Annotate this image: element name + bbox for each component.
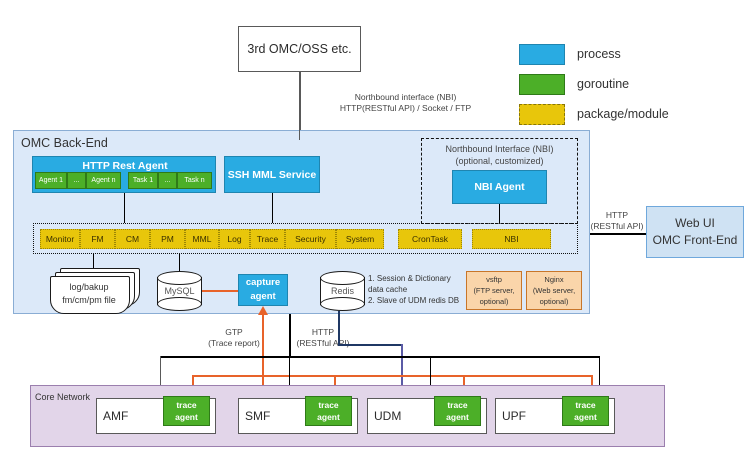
southbound-bus-line [160, 356, 600, 358]
agent-item[interactable]: Agent n [86, 172, 121, 189]
connector-northbound-to-backend [299, 130, 300, 140]
http-link-label: HTTP (RESTful API) [283, 327, 363, 349]
capture-agent-line2: agent [250, 290, 275, 304]
gtp-line2: (Trace report) [196, 338, 272, 349]
web-ui-box[interactable]: Web UI OMC Front-End [646, 206, 744, 258]
vsftp-line3: optional) [480, 296, 509, 307]
module-trace[interactable]: Trace [250, 229, 285, 249]
mysql-cylinder-bottom [157, 297, 202, 311]
module-monitor[interactable]: Monitor [40, 229, 80, 249]
connector-rest-agent-to-modules [124, 193, 125, 223]
module-mml[interactable]: MML [185, 229, 219, 249]
task-item[interactable]: Task 1 [128, 172, 158, 189]
redis-note-3: 2. Slave of UDM redis DB [368, 295, 478, 306]
legend-swatch-goroutine [519, 74, 565, 95]
file-store-text: log/bakup fm/cm/pm file [50, 281, 128, 307]
capture-agent-box[interactable]: capture agent [238, 274, 288, 306]
nginx-server-box[interactable]: Nginx (Web server, optional) [526, 271, 582, 310]
redis-label: Redis [320, 286, 365, 296]
mysql-label: MySQL [157, 286, 202, 296]
redis-cylinder-bottom [320, 297, 365, 311]
core-node-amf-label: AMF [103, 409, 128, 423]
trace-agent-udm-line2: agent [446, 411, 469, 423]
task-item-label: Task n [184, 177, 204, 184]
trace-agent-udm[interactable]: trace agent [434, 396, 481, 426]
module-label: Log [227, 234, 241, 244]
trace-agent-smf-line1: trace [318, 399, 338, 411]
module-pm[interactable]: PM [150, 229, 185, 249]
task-item-label: Task 1 [133, 177, 153, 184]
connector-nbi-agent-to-modules [499, 204, 500, 223]
capture-agent-line1: capture [246, 276, 280, 290]
core-network-title: Core Network [35, 392, 90, 402]
module-label: System [346, 234, 374, 244]
legend-label-goroutine: goroutine [577, 77, 629, 91]
nbi-agent-label: NBI Agent [474, 181, 524, 193]
vsftp-line1: vsftp [486, 274, 502, 285]
module-label: Monitor [46, 234, 74, 244]
nginx-line1: Nginx [544, 274, 563, 285]
legend: process goroutine package/module [519, 44, 739, 122]
mysql-cylinder-top [157, 271, 202, 285]
redis-cylinder-top [320, 271, 365, 285]
ssh-mml-service-box[interactable]: SSH MML Service [224, 156, 320, 193]
connector-ssh-to-modules [272, 193, 273, 223]
vsftp-server-box[interactable]: vsftp (FTP server, optional) [466, 271, 522, 310]
file-store-line1: log/bakup [50, 281, 128, 294]
southbound-orange-bus-line [192, 375, 592, 377]
task-item[interactable]: Task n [177, 172, 212, 189]
module-label: CM [126, 234, 139, 244]
agent-item-label: Agent n [91, 177, 115, 184]
module-label: PM [161, 234, 174, 244]
file-store-line2: fm/cm/pm file [50, 294, 128, 307]
link-backend-to-web-ui [590, 233, 646, 235]
web-ui-line2: OMC Front-End [653, 232, 738, 249]
web-ui-line1: Web UI [675, 215, 715, 232]
http-bus-drop [289, 314, 291, 357]
module-label: FM [91, 234, 103, 244]
module-log[interactable]: Log [219, 229, 250, 249]
nbi-agent-box[interactable]: NBI Agent [452, 170, 547, 204]
trace-agent-smf-line2: agent [317, 411, 340, 423]
core-node-udm-label: UDM [374, 409, 401, 423]
third-party-omc-oss-label: 3rd OMC/OSS etc. [247, 42, 351, 56]
agent-item-label: Agent 1 [39, 177, 63, 184]
ssh-mml-service-title: SSH MML Service [228, 169, 317, 181]
legend-label-process: process [577, 47, 621, 61]
trace-agent-upf[interactable]: trace agent [562, 396, 609, 426]
module-nbi[interactable]: NBI [472, 229, 551, 249]
nbi-group-label: Northbound Interface (NBI) (optional, cu… [421, 143, 578, 167]
file-store-stack: log/bakup fm/cm/pm file [50, 268, 138, 312]
trace-agent-smf[interactable]: trace agent [305, 396, 352, 426]
omc-backend-title: OMC Back-End [21, 136, 108, 150]
core-node-upf-label: UPF [502, 409, 526, 423]
northbound-link-label: Northbound interface (NBI) HTTP(RESTful … [298, 92, 513, 114]
northbound-link-line2: HTTP(RESTful API) / Socket / FTP [298, 103, 513, 114]
http-line1: HTTP [283, 327, 363, 338]
agent-item-label: ... [74, 177, 80, 184]
vsftp-line2: (FTP server, [473, 285, 514, 296]
legend-label-package-module: package/module [577, 107, 669, 121]
http-rest-agent-title: HTTP Rest Agent [33, 158, 217, 173]
agent-item[interactable]: Agent 1 [35, 172, 67, 189]
agent-item[interactable]: ... [67, 172, 86, 189]
module-label: CronTask [412, 234, 448, 244]
http-rest-agent-agents-group: Agent 1 ... Agent n [35, 172, 121, 189]
module-crontask[interactable]: CronTask [398, 229, 462, 249]
core-node-smf-label: SMF [245, 409, 270, 423]
third-party-omc-oss-node[interactable]: 3rd OMC/OSS etc. [238, 26, 361, 72]
trace-agent-amf-line1: trace [176, 399, 196, 411]
gtp-link-label: GTP (Trace report) [196, 327, 272, 349]
module-fm[interactable]: FM [80, 229, 115, 249]
gtp-arrow-head [258, 306, 268, 315]
module-security[interactable]: Security [285, 229, 336, 249]
trace-agent-amf-line2: agent [175, 411, 198, 423]
legend-swatch-package-module [519, 104, 565, 125]
redis-note-1: 1. Session & Dictionary [368, 273, 478, 284]
module-label: NBI [504, 234, 518, 244]
redis-udm-link-h [338, 344, 402, 346]
trace-agent-udm-line1: trace [447, 399, 467, 411]
nbi-group-line1: Northbound Interface (NBI) [421, 143, 578, 155]
trace-agent-upf-line2: agent [574, 411, 597, 423]
module-label: Trace [257, 234, 278, 244]
task-item[interactable]: ... [158, 172, 177, 189]
http-rest-agent-tasks-group: Task 1 ... Task n [128, 172, 212, 189]
redis-note-2: data cache [368, 284, 478, 295]
trace-agent-amf[interactable]: trace agent [163, 396, 210, 426]
web-ui-link-line2: (RESTful API) [586, 221, 648, 232]
nginx-line3: optional) [540, 296, 569, 307]
mysql-database[interactable]: MySQL [157, 271, 202, 311]
nbi-group-line2: (optional, customized) [421, 155, 578, 167]
connector-modules-to-mysql [179, 254, 180, 271]
module-system[interactable]: System [336, 229, 384, 249]
trace-agent-upf-line1: trace [575, 399, 595, 411]
redis-database[interactable]: Redis [320, 271, 365, 311]
redis-notes: 1. Session & Dictionary data cache 2. Sl… [368, 273, 478, 306]
northbound-link-line1: Northbound interface (NBI) [298, 92, 513, 103]
nginx-line2: (Web server, [533, 285, 575, 296]
web-ui-link-line1: HTTP [586, 210, 648, 221]
redis-udm-link-v1 [338, 311, 340, 345]
module-cm[interactable]: CM [115, 229, 150, 249]
module-label: Security [295, 234, 326, 244]
web-ui-link-label: HTTP (RESTful API) [586, 210, 648, 232]
task-item-label: ... [165, 177, 171, 184]
link-mysql-to-capture-agent [202, 290, 238, 292]
gtp-line1: GTP [196, 327, 272, 338]
module-label: MML [193, 234, 212, 244]
legend-swatch-process [519, 44, 565, 65]
